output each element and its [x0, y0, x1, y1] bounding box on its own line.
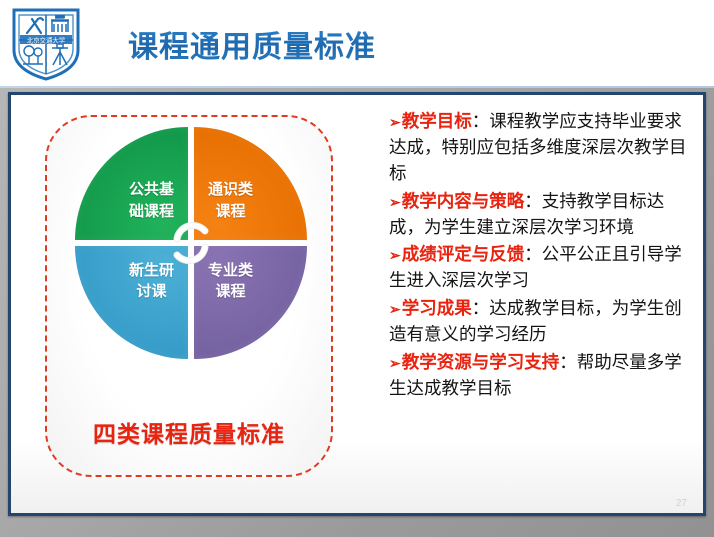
quadrant-public-basic-line2: 础课程	[129, 203, 174, 224]
course-category-wheel-diagram: 公共基 础课程 通识类 课程 新生研 讨课	[29, 103, 349, 503]
slide-canvas: 北京交通大学 1896	[0, 0, 714, 537]
bullet-term: 教学资源与学习支持	[402, 352, 560, 372]
bullet-separator: ：	[472, 111, 490, 131]
quadrant-major-courses[interactable]: 专业类 课程	[194, 246, 307, 359]
bullet-term: 教学目标	[402, 111, 472, 131]
quadrant-major-courses-line1: 专业类	[208, 262, 253, 283]
diagram-caption: 四类课程质量标准	[29, 415, 349, 449]
quadrant-general-education-line2: 课程	[208, 203, 253, 224]
bullet-arrow-icon: ➢	[389, 301, 401, 317]
quality-standards-list: ➢教学目标：课程教学应支持毕业要求达成，特别应包括多维度深层次教学目标 ➢教学内…	[389, 109, 689, 404]
list-item: ➢成绩评定与反馈：公平公正且引导学生进入深层次学习	[389, 242, 689, 294]
quadrant-major-courses-line2: 课程	[208, 283, 253, 304]
quadrant-public-basic[interactable]: 公共基 础课程	[75, 127, 188, 240]
page-title: 课程通用质量标准	[128, 22, 376, 66]
bullet-term: 成绩评定与反馈	[402, 244, 525, 264]
slide-header: 北京交通大学 1896	[0, 0, 714, 88]
bullet-separator: ：	[472, 298, 490, 318]
list-item: ➢学习成果：达成教学目标，为学生创造有意义的学习经历	[389, 296, 689, 348]
page-number: 27	[676, 498, 687, 509]
bullet-term: 学习成果	[402, 298, 472, 318]
quadrant-freshman-seminar-line2: 讨课	[129, 283, 174, 304]
bullet-separator: ：	[524, 191, 542, 211]
quadrant-wheel: 公共基 础课程 通识类 课程 新生研 讨课	[75, 127, 307, 359]
list-item: ➢教学内容与策略：支持教学目标达成，为学生建立深层次学习环境	[389, 189, 689, 241]
quadrant-freshman-seminar[interactable]: 新生研 讨课	[75, 246, 188, 359]
bullet-arrow-icon: ➢	[389, 247, 401, 263]
bullet-arrow-icon: ➢	[389, 114, 401, 130]
bullet-separator: ：	[559, 352, 577, 372]
quadrant-freshman-seminar-line1: 新生研	[129, 262, 174, 283]
quadrant-public-basic-line1: 公共基	[129, 181, 174, 202]
quadrant-general-education-line1: 通识类	[208, 181, 253, 202]
content-frame-inner: 公共基 础课程 通识类 课程 新生研 讨课	[11, 95, 703, 513]
svg-text:北京交通大学: 北京交通大学	[27, 36, 66, 45]
bullet-term: 教学内容与策略	[402, 191, 525, 211]
university-shield-emblem-icon: 北京交通大学 1896	[10, 6, 82, 82]
list-item: ➢教学目标：课程教学应支持毕业要求达成，特别应包括多维度深层次教学目标	[389, 109, 689, 187]
header-divider	[0, 86, 714, 88]
bullet-arrow-icon: ➢	[389, 194, 401, 210]
bullet-arrow-icon: ➢	[389, 355, 401, 371]
list-item: ➢教学资源与学习支持：帮助尽量多学生达成教学目标	[389, 350, 689, 402]
bullet-separator: ：	[524, 244, 542, 264]
svg-text:1896: 1896	[55, 15, 65, 19]
quadrant-general-education[interactable]: 通识类 课程	[194, 127, 307, 240]
content-frame: 公共基 础课程 通识类 课程 新生研 讨课	[8, 92, 706, 516]
